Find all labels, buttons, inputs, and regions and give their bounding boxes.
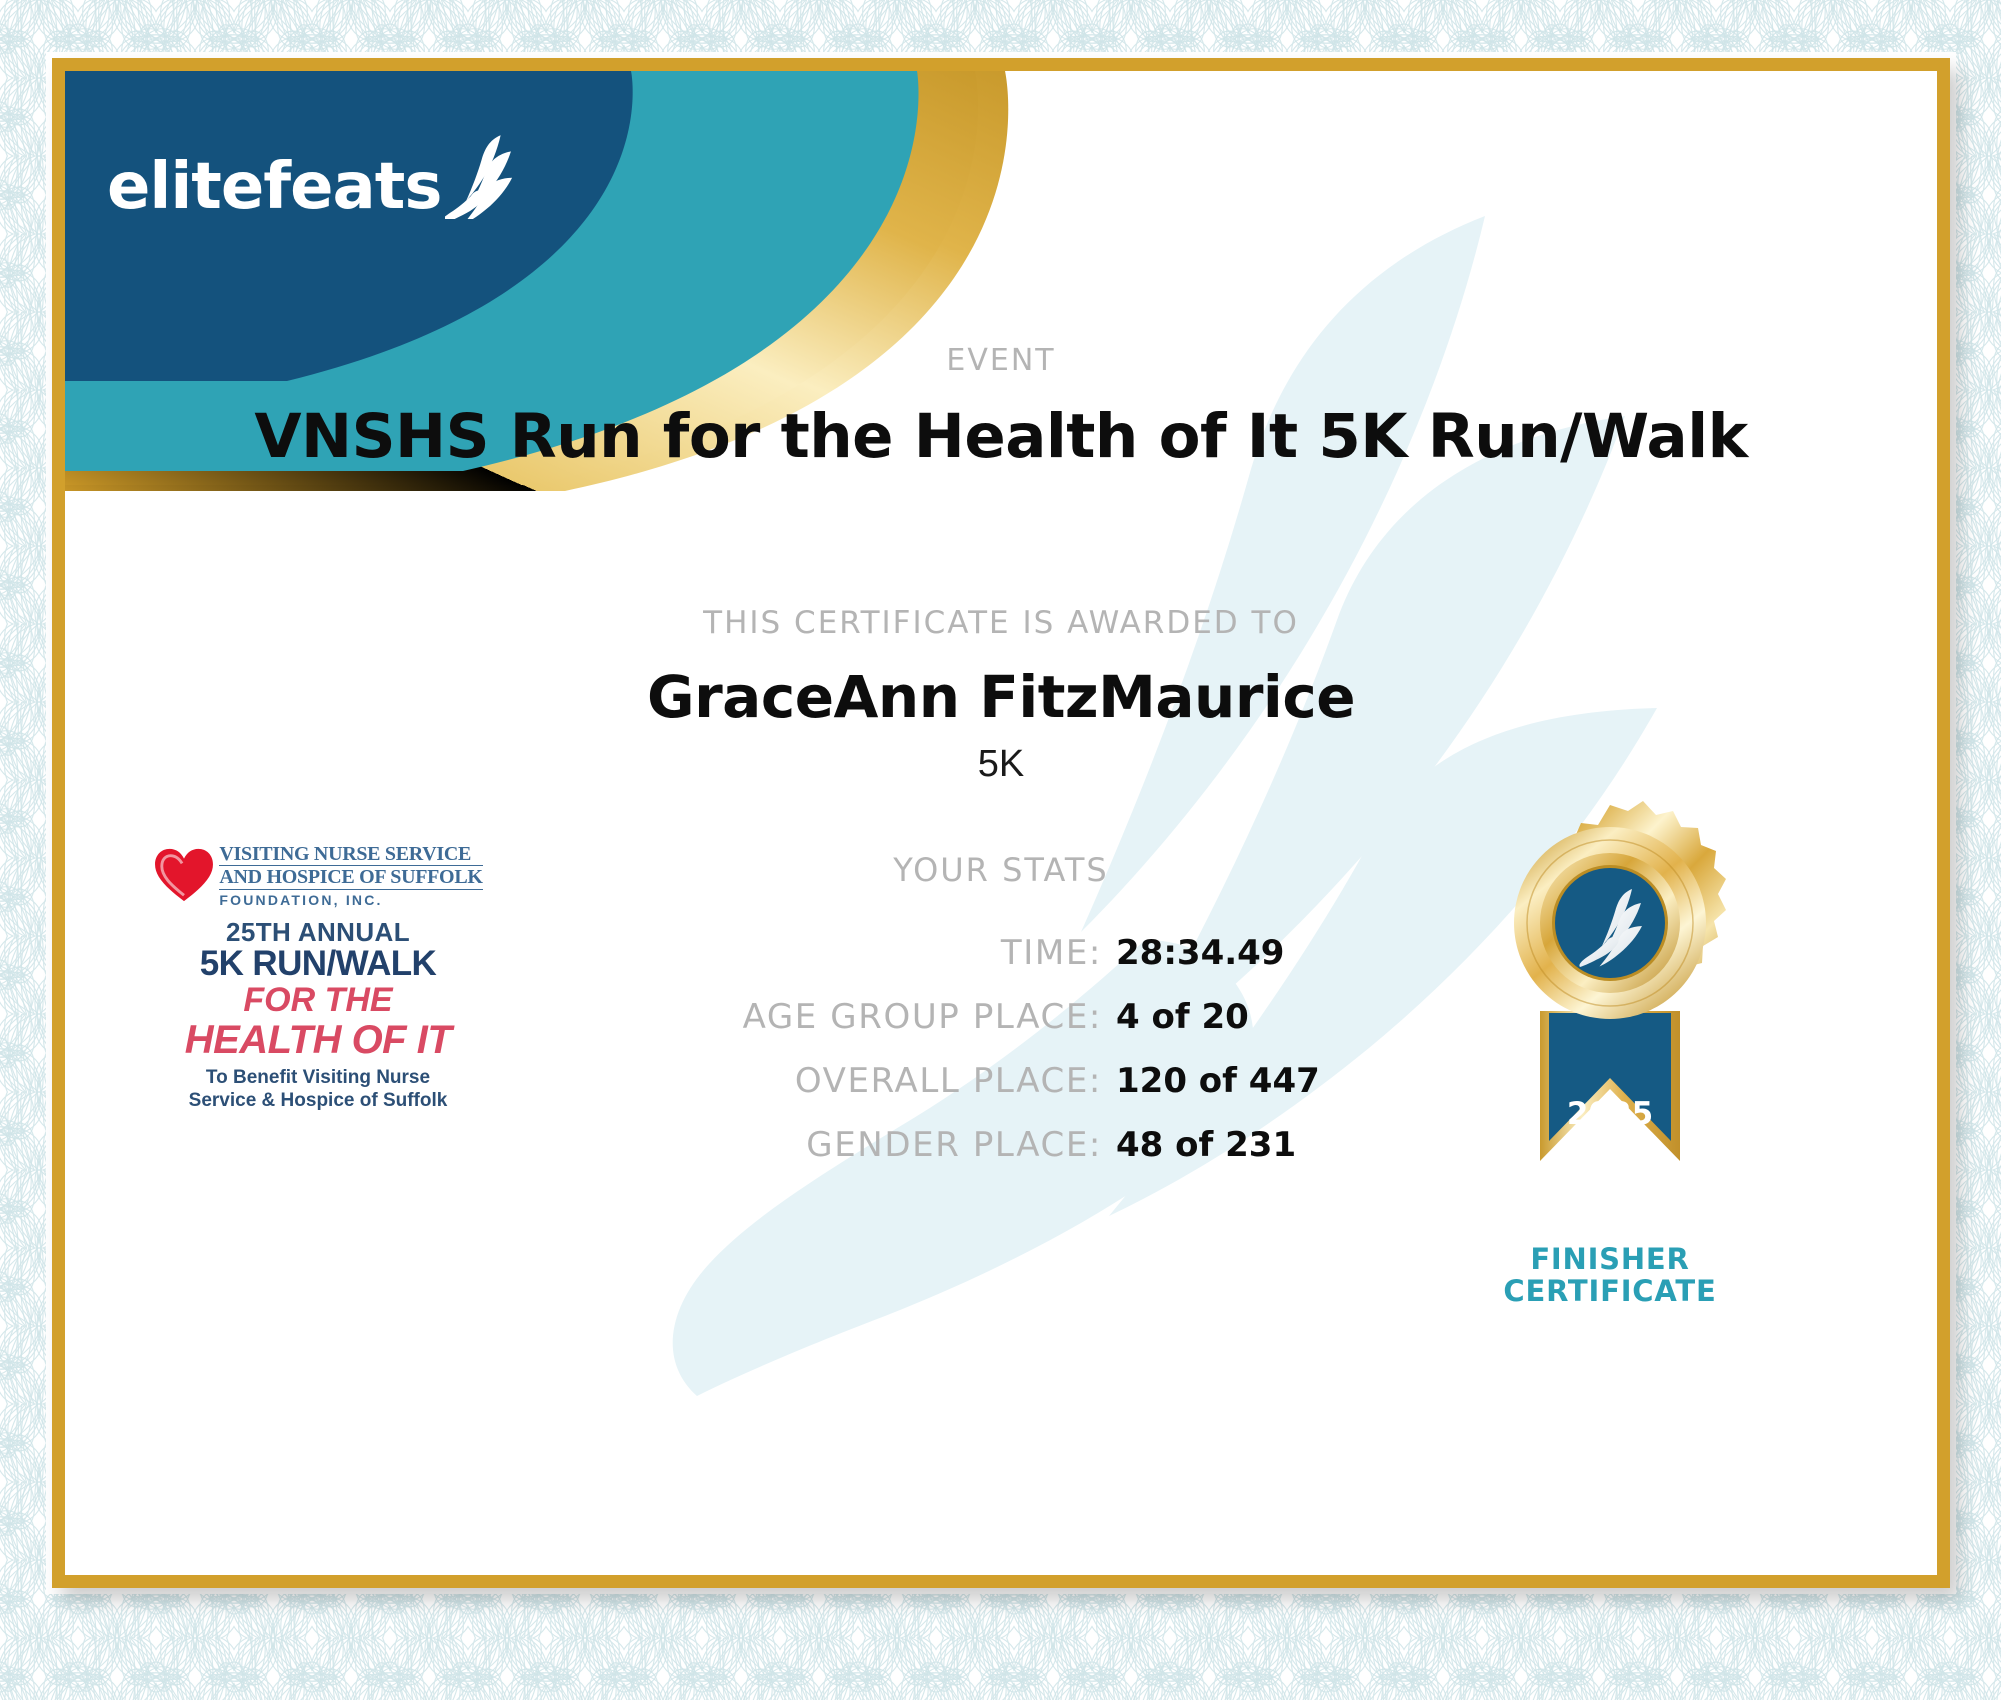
vnshs-org-mark: VISITING NURSE SERVICE AND HOSPICE OF SU… xyxy=(153,843,483,908)
medal-caption-line-2: CERTIFICATE xyxy=(1445,1275,1775,1307)
recipient-name: GraceAnn FitzMaurice xyxy=(65,663,1937,731)
medal-year-text: 2025 xyxy=(1567,1096,1653,1132)
sponsor-health-of-it-text: HEALTH OF IT xyxy=(153,1019,483,1061)
awarded-to-label: THIS CERTIFICATE IS AWARDED TO xyxy=(65,605,1937,641)
finisher-medal-badge: 2025 FINISHER CERTIFICATE xyxy=(1445,801,1775,1308)
vnshs-line-1: VISITING NURSE SERVICE xyxy=(219,843,482,866)
vnshs-org-lines: VISITING NURSE SERVICE AND HOSPICE OF SU… xyxy=(219,843,482,908)
sponsor-benefit-text: To Benefit Visiting Nurse Service & Hosp… xyxy=(153,1067,483,1113)
certificate-page: elitefeats EVENT VNSHS Run for the Healt… xyxy=(0,0,2001,1700)
certificate-frame: elitefeats EVENT VNSHS Run for the Healt… xyxy=(52,58,1950,1588)
event-label: EVENT xyxy=(65,343,1937,378)
medal-caption-line-1: FINISHER xyxy=(1445,1243,1775,1275)
certificate-content: EVENT VNSHS Run for the Health of It 5K … xyxy=(65,71,1937,1575)
vnshs-line-3: FOUNDATION, INC. xyxy=(219,890,482,908)
sponsor-annual-text: 25TH ANNUAL xyxy=(153,918,483,947)
sponsor-run-walk-text: 5K RUN/WALK xyxy=(153,946,483,983)
certificate-inner: elitefeats EVENT VNSHS Run for the Healt… xyxy=(65,71,1937,1575)
stat-label: GENDER PLACE: xyxy=(340,1125,1102,1165)
sponsor-benefit-line-1: To Benefit Visiting Nurse xyxy=(153,1067,483,1090)
sponsor-logo: VISITING NURSE SERVICE AND HOSPICE OF SU… xyxy=(153,843,483,1112)
medal-ribbon-graphic: 2025 xyxy=(1477,801,1743,1241)
medal-caption: FINISHER CERTIFICATE xyxy=(1445,1243,1775,1308)
event-title: VNSHS Run for the Health of It 5K Run/Wa… xyxy=(65,401,1937,472)
heart-icon xyxy=(153,847,215,903)
sponsor-for-the-text: FOR THE xyxy=(153,983,483,1019)
division-name: 5K xyxy=(65,743,1937,786)
sponsor-benefit-line-2: Service & Hospice of Suffolk xyxy=(153,1090,483,1113)
vnshs-line-2: AND HOSPICE OF SUFFOLK xyxy=(219,866,482,889)
